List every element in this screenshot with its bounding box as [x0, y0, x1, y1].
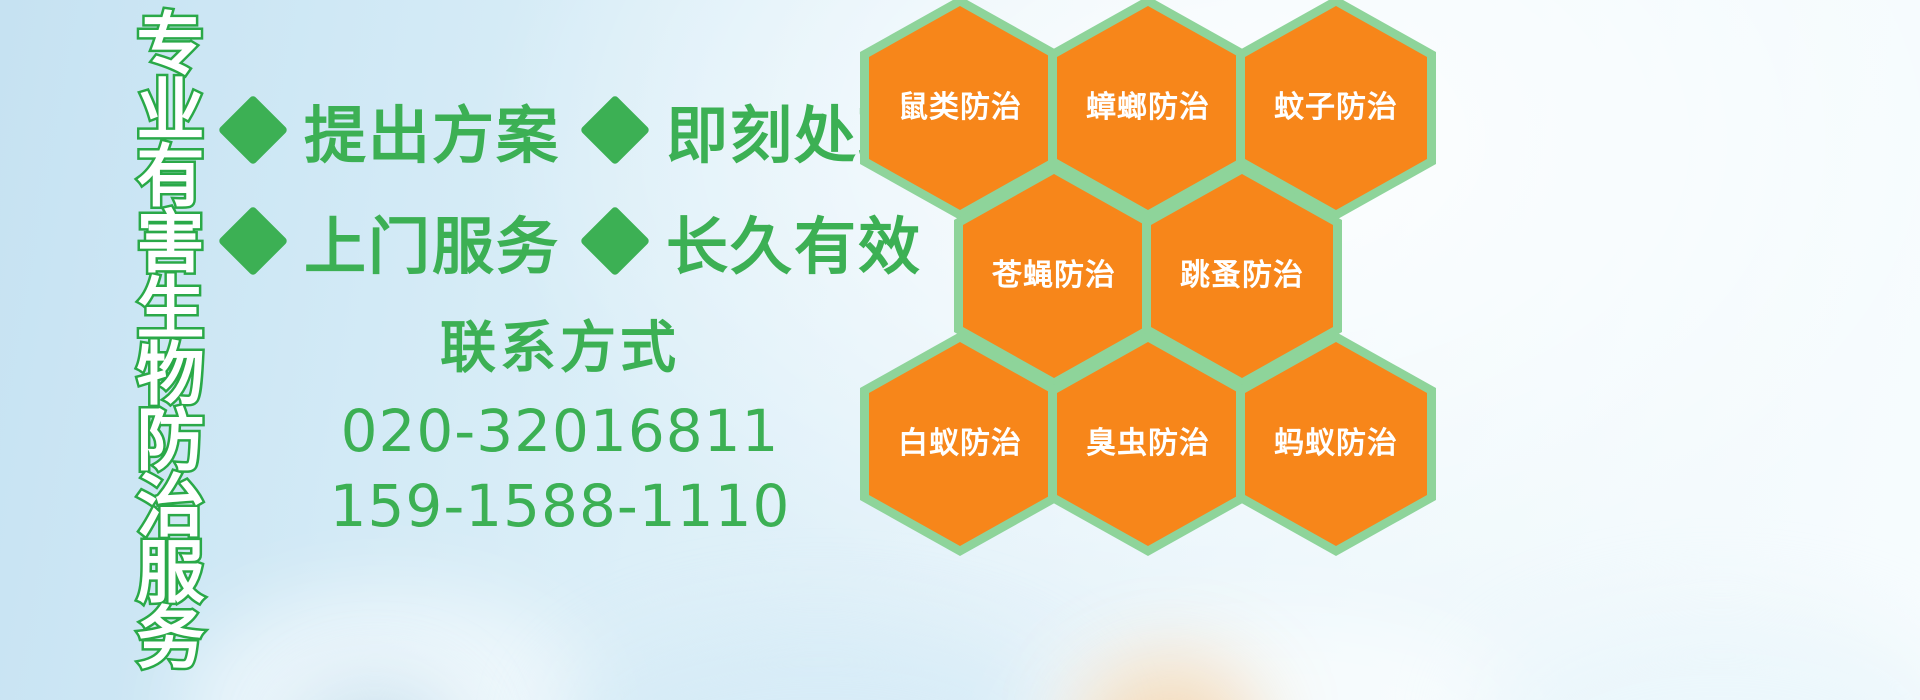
hex-label: 臭虫防治 [1086, 429, 1210, 459]
background-haze-blob [560, 620, 1080, 700]
background-haze-accent-blob [1080, 660, 1260, 700]
hex-label: 鼠类防治 [898, 93, 1022, 123]
feature-label-onsite-service: 上门服务 [304, 196, 560, 286]
hex-inner: 苍蝇防治 [963, 174, 1145, 378]
diamond-bullet-icon [580, 206, 651, 277]
hex-label: 白蚁防治 [898, 429, 1022, 459]
pest-control-banner: 专业有害生物防治服务 提出方案 即刻处理 上门服务 长久有效 联系方式 020-… [0, 0, 1920, 700]
background-haze-blob [180, 590, 600, 700]
hex-label: 蟑螂防治 [1086, 93, 1210, 123]
hex-inner: 白蚁防治 [869, 342, 1051, 546]
background-haze-blob [300, 690, 450, 700]
hex-inner: 蟑螂防治 [1057, 6, 1239, 210]
diamond-bullet-icon [218, 206, 289, 277]
hex-label: 蚂蚁防治 [1274, 429, 1398, 459]
hex-label: 苍蝇防治 [992, 261, 1116, 291]
hex-label: 跳蚤防治 [1180, 261, 1304, 291]
diamond-bullet-icon [218, 95, 289, 166]
contact-title: 联系方式 [300, 318, 820, 378]
vertical-headline: 专业有害生物防治服务 [112, 8, 198, 668]
phone-number-mobile[interactable]: 159-1588-1110 [300, 469, 820, 543]
background-haze-blob [1480, 610, 1920, 700]
diamond-bullet-icon [580, 95, 651, 166]
hex-label: 蚊子防治 [1274, 93, 1398, 123]
feature-row-2: 上门服务 长久有效 [228, 196, 922, 286]
background-haze-blob [1020, 610, 1540, 700]
hex-inner: 跳蚤防治 [1151, 174, 1333, 378]
service-hexagon-grid: 鼠类防治 蟑螂防治 蚊子防治 苍蝇防治 跳蚤防治 白蚁防治 [852, 0, 1472, 548]
contact-block: 联系方式 020-32016811 159-1588-1110 [300, 318, 820, 543]
feature-row-1: 提出方案 即刻处理 [228, 85, 922, 175]
hex-inner: 蚂蚁防治 [1245, 342, 1427, 546]
hex-inner: 臭虫防治 [1057, 342, 1239, 546]
hex-inner: 鼠类防治 [869, 6, 1051, 210]
feature-label-propose-plan: 提出方案 [304, 85, 560, 175]
phone-number-landline[interactable]: 020-32016811 [300, 394, 820, 468]
hex-inner: 蚊子防治 [1245, 6, 1427, 210]
